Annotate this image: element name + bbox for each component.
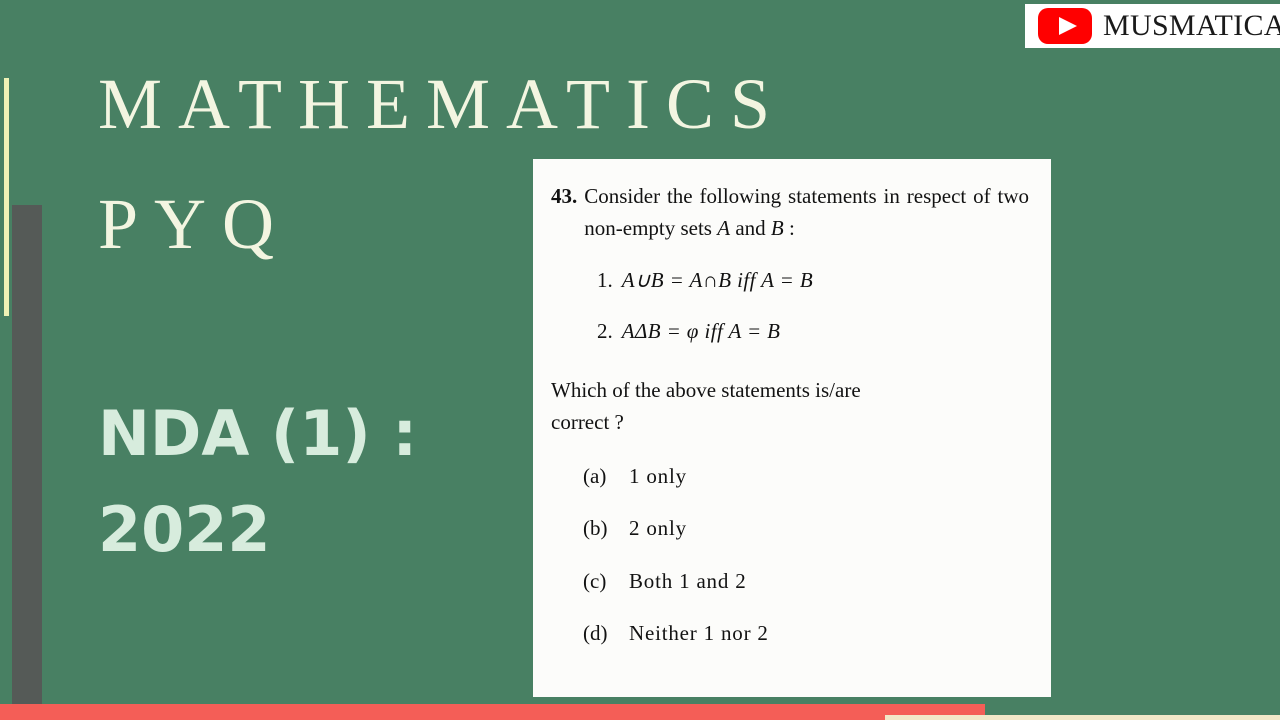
question-ask: Which of the above statements is/are cor… bbox=[551, 374, 1029, 439]
statement-number: 1. bbox=[597, 265, 622, 297]
option-label: 2 only bbox=[629, 514, 687, 543]
question-number: 43. bbox=[551, 181, 584, 213]
question-prompt-mid: and bbox=[730, 216, 771, 240]
option-d[interactable]: (d) Neither 1 nor 2 bbox=[551, 619, 1029, 648]
option-a[interactable]: (a) 1 only bbox=[551, 462, 1029, 491]
gray-accent-block bbox=[12, 205, 42, 710]
question-header: 43. Consider the following statements in… bbox=[551, 181, 1029, 245]
question-ask-line-2: correct ? bbox=[551, 406, 1029, 439]
option-key: (b) bbox=[583, 514, 629, 543]
page-title: MATHEMATICS bbox=[98, 62, 1078, 147]
option-label: Neither 1 nor 2 bbox=[629, 619, 769, 648]
exam-label-line-1: NDA (1) : bbox=[98, 386, 498, 482]
exam-label: NDA (1) : 2022 bbox=[98, 386, 498, 578]
option-label: 1 only bbox=[629, 462, 687, 491]
youtube-play-icon bbox=[1037, 6, 1093, 46]
question-prompt-end: : bbox=[784, 216, 795, 240]
slide-canvas: MUSMATICAL MATHEMATICS PYQ NDA (1) : 202… bbox=[0, 0, 1280, 720]
statement-item: 2. AΔB = φ iff A = B bbox=[551, 316, 1029, 348]
option-key: (c) bbox=[583, 567, 629, 596]
bottom-accent-bar bbox=[0, 704, 985, 720]
statement-number: 2. bbox=[597, 316, 622, 348]
statement-item: 1. A∪B = A∩B iff A = B bbox=[551, 265, 1029, 297]
channel-badge: MUSMATICAL bbox=[1025, 4, 1280, 48]
channel-name: MUSMATICAL bbox=[1103, 9, 1280, 43]
exam-label-line-2: 2022 bbox=[98, 482, 498, 578]
statement-text: A∪B = A∩B iff A = B bbox=[622, 265, 813, 297]
option-label: Both 1 and 2 bbox=[629, 567, 747, 596]
question-card: 43. Consider the following statements in… bbox=[533, 159, 1051, 697]
bottom-accent-strip bbox=[885, 715, 1280, 720]
option-key: (d) bbox=[583, 619, 629, 648]
statement-text: AΔB = φ iff A = B bbox=[622, 316, 781, 348]
question-prompt-var-a: A bbox=[717, 216, 730, 240]
question-prompt: Consider the following statements in res… bbox=[584, 181, 1029, 245]
option-c[interactable]: (c) Both 1 and 2 bbox=[551, 567, 1029, 596]
page-subtitle: PYQ bbox=[98, 182, 290, 267]
yellow-accent-line bbox=[4, 78, 9, 316]
option-b[interactable]: (b) 2 only bbox=[551, 514, 1029, 543]
question-prompt-var-b: B bbox=[771, 216, 784, 240]
option-key: (a) bbox=[583, 462, 629, 491]
question-ask-line-1: Which of the above statements is/are bbox=[551, 378, 861, 402]
question-prompt-part-1: Consider the following statements in res… bbox=[584, 184, 1029, 240]
